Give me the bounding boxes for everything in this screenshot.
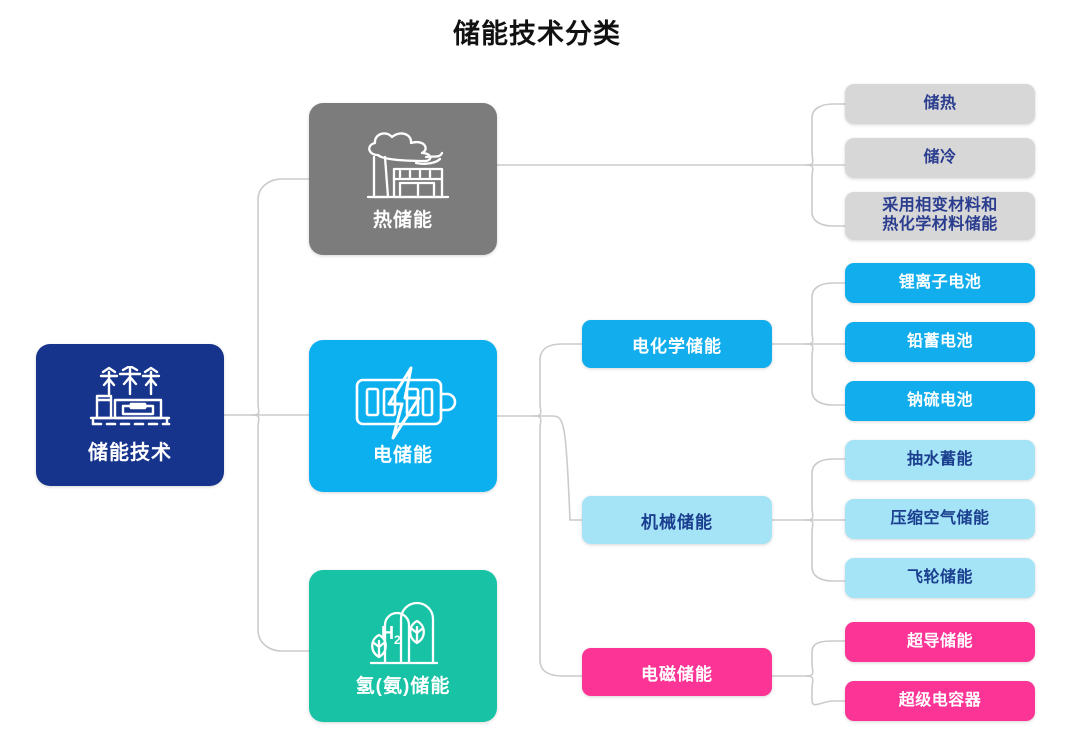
node-thermal-label: 热储能 [373, 205, 433, 232]
node-thermal-storage[interactable]: 热储能 [309, 103, 497, 255]
node-mechanical-storage[interactable]: 机械储能 [582, 496, 772, 544]
leaf-label: 超级电容器 [899, 692, 982, 711]
leaf-sodium-sulfur-battery[interactable]: 钠硫电池 [845, 381, 1035, 421]
leaf-supercapacitor[interactable]: 超级电容器 [845, 681, 1035, 721]
leaf-label: 飞轮储能 [907, 569, 973, 588]
leaf-lithium-ion-battery[interactable]: 锂离子电池 [845, 263, 1035, 303]
node-electric-storage[interactable]: 电储能 [309, 340, 497, 492]
leaf-label: 抽水蓄能 [907, 451, 973, 470]
page-title: 储能技术分类 [0, 12, 1074, 51]
node-mechanical-label: 机械储能 [641, 508, 713, 533]
node-hydrogen-ammonia-storage[interactable]: H 2 氢(氨)储能 [309, 570, 497, 722]
leaf-pumped-hydro-storage[interactable]: 抽水蓄能 [845, 440, 1035, 480]
leaf-label: 储冷 [923, 149, 956, 168]
leaf-label: 锂离子电池 [899, 274, 982, 293]
node-electric-label: 电储能 [373, 440, 433, 467]
leaf-label: 钠硫电池 [907, 392, 973, 411]
leaf-label: 采用相变材料和 热化学材料储能 [882, 197, 998, 235]
node-root-storage-technology[interactable]: 储能技术 [36, 344, 224, 486]
factory-smokestack-icon [354, 127, 452, 205]
leaf-label: 压缩空气储能 [890, 510, 989, 529]
leaf-cold-storage[interactable]: 储冷 [845, 138, 1035, 178]
node-electromagnetic-label: 电磁储能 [641, 660, 713, 685]
leaf-superconducting-storage[interactable]: 超导储能 [845, 622, 1035, 662]
leaf-heat-storage[interactable]: 储热 [845, 84, 1035, 124]
leaf-compressed-air-storage[interactable]: 压缩空气储能 [845, 499, 1035, 539]
node-hydrogen-label: 氢(氨)储能 [356, 671, 451, 698]
leaf-flywheel-storage[interactable]: 飞轮储能 [845, 558, 1035, 598]
svg-text:H: H [381, 623, 394, 643]
hydrogen-tank-icon: H 2 [357, 595, 449, 671]
node-electromagnetic-storage[interactable]: 电磁储能 [582, 648, 772, 696]
power-plant-icon [87, 366, 173, 432]
node-electrochemical-storage[interactable]: 电化学储能 [582, 320, 772, 368]
mindmap-canvas: 储能技术分类 [0, 0, 1074, 738]
node-electrochemical-label: 电化学储能 [632, 332, 722, 357]
svg-text:2: 2 [394, 633, 401, 647]
battery-bolt-icon [349, 366, 457, 440]
leaf-label: 储热 [923, 95, 956, 114]
leaf-label: 铅蓄电池 [907, 333, 973, 352]
leaf-lead-acid-battery[interactable]: 铅蓄电池 [845, 322, 1035, 362]
leaf-label: 超导储能 [907, 633, 973, 652]
node-root-label: 储能技术 [88, 436, 172, 465]
leaf-phase-change-thermochemical-storage[interactable]: 采用相变材料和 热化学材料储能 [845, 192, 1035, 240]
